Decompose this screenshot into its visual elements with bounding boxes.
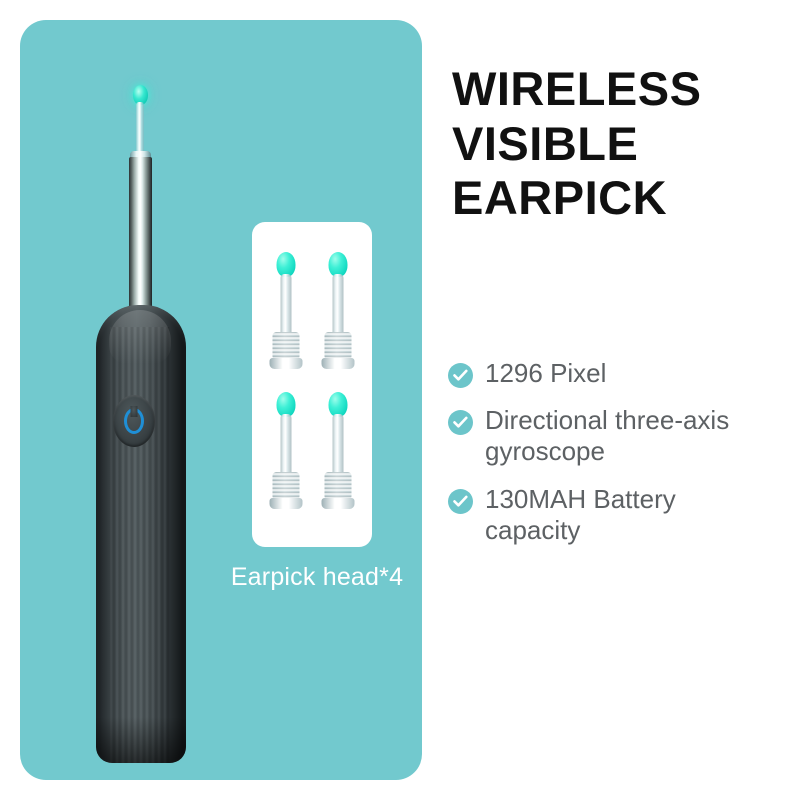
headline-line-1: WIRELESS [452, 62, 782, 117]
earpick-head-flange [322, 358, 355, 369]
feature-item-battery: 130MAH Battery capacity [448, 484, 788, 546]
info-column: WIRELESS VISIBLE EARPICK [452, 62, 782, 226]
earpick-head-flange [322, 498, 355, 509]
earpick-head-flange [270, 498, 303, 509]
accessory-caption: Earpick head*4 [202, 563, 432, 592]
product-banner: Earpick head*4 WIRELESS VISIBLE EARPICK … [0, 0, 800, 800]
earpick-head-4 [318, 390, 358, 515]
handle-highlight [109, 310, 171, 364]
feature-label: 130MAH Battery capacity [485, 484, 753, 546]
product-panel: Earpick head*4 [20, 20, 422, 780]
earpick-device [80, 65, 220, 775]
feature-label: 1296 Pixel [485, 358, 606, 389]
feature-list: 1296 Pixel Directional three-axis gyrosc… [448, 358, 788, 562]
power-button[interactable] [113, 395, 155, 447]
earpick-head-grid [260, 250, 364, 529]
earpick-head-stem [281, 274, 292, 336]
headline-line-2: VISIBLE [452, 117, 782, 172]
power-icon [124, 408, 144, 434]
earpick-head-3 [266, 390, 306, 515]
feature-item-pixel: 1296 Pixel [448, 358, 788, 389]
page-title: WIRELESS VISIBLE EARPICK [452, 62, 782, 226]
check-icon [448, 489, 473, 514]
handle-foot [96, 717, 186, 763]
earpick-head-stem [333, 274, 344, 336]
handle-flute-texture [110, 327, 170, 763]
earpick-head-flange [270, 358, 303, 369]
earpick-head-stem [281, 414, 292, 476]
earpick-head-stem [333, 414, 344, 476]
chrome-barrel [129, 157, 152, 317]
device-handle [96, 305, 186, 763]
earpick-head-1 [266, 250, 306, 375]
accessory-card [252, 222, 372, 547]
check-icon [448, 410, 473, 435]
earpick-head-2 [318, 250, 358, 375]
check-icon [448, 363, 473, 388]
headline-line-3: EARPICK [452, 171, 782, 226]
feature-item-gyroscope: Directional three-axis gyroscope [448, 405, 788, 467]
feature-label: Directional three-axis gyroscope [485, 405, 753, 467]
